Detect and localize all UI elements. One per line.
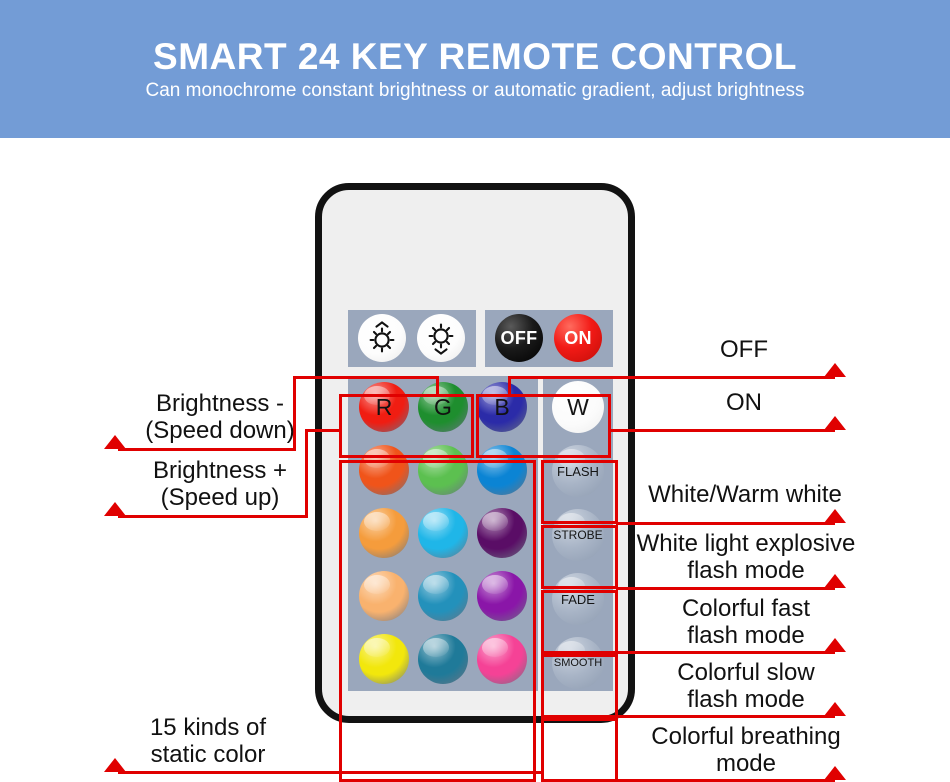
sun-up-arrow-icon	[358, 314, 406, 362]
gloss-highlight	[423, 638, 449, 657]
color-button-12[interactable]	[477, 571, 527, 621]
brightness-down-button[interactable]	[417, 314, 465, 362]
arrow-off	[824, 363, 846, 377]
label-strobe-mode: Colorful fast flash mode	[630, 596, 862, 650]
mode-button-label: W	[552, 381, 604, 433]
label-brightness-down: Brightness - (Speed down)	[130, 391, 310, 445]
color-button-label: B	[477, 382, 527, 432]
off-button-label: OFF	[495, 314, 543, 362]
label-smooth-mode: Colorful breathing mode	[630, 724, 862, 778]
leader-brightness-up-h2	[118, 515, 308, 518]
mode-button-smooth[interactable]: SMOOTH	[552, 637, 604, 689]
mode-button-label: SMOOTH	[552, 637, 604, 689]
leader-white-h	[616, 522, 835, 525]
power-panel: OFF ON	[485, 310, 613, 367]
color-button-label: R	[359, 382, 409, 432]
leader-flash-h	[616, 587, 835, 590]
brightness-panel	[348, 310, 476, 367]
gloss-highlight	[364, 512, 390, 531]
page-subtitle: Can monochrome constant brightness or au…	[145, 81, 804, 100]
mode-button-flash[interactable]: FLASH	[552, 445, 604, 497]
on-button[interactable]: ON	[554, 314, 602, 362]
arrow-on	[824, 416, 846, 430]
color-button-4[interactable]	[359, 445, 409, 495]
gloss-highlight	[482, 512, 508, 531]
label-white-warm-white: White/Warm white	[630, 482, 860, 509]
arrow-white	[824, 509, 846, 523]
mode-button-label: FADE	[552, 573, 604, 625]
brightness-up-button[interactable]	[358, 314, 406, 362]
label-flash-mode: White light explosive flash mode	[630, 531, 862, 585]
leader-static-color-h	[118, 771, 542, 774]
color-grid-panel: RGB	[348, 376, 538, 691]
gloss-highlight	[364, 638, 390, 657]
label-off: OFF	[644, 337, 844, 364]
leader-brightness-down-h2	[118, 448, 296, 451]
page-title: SMART 24 KEY REMOTE CONTROL	[153, 38, 797, 75]
color-button-5[interactable]	[418, 445, 468, 495]
color-button-r[interactable]: R	[359, 382, 409, 432]
color-button-9[interactable]	[477, 508, 527, 558]
gloss-highlight	[364, 449, 390, 468]
label-on: ON	[644, 390, 844, 417]
color-button-8[interactable]	[418, 508, 468, 558]
gloss-highlight	[423, 575, 449, 594]
mode-button-label: FLASH	[552, 445, 604, 497]
gloss-highlight	[482, 449, 508, 468]
mode-button-label: STROBE	[552, 509, 604, 561]
color-button-15[interactable]	[477, 634, 527, 684]
diagram-stage: OFF ON RGB WFLASHSTROBEFADESMOOTH	[0, 138, 950, 757]
color-button-10[interactable]	[359, 571, 409, 621]
on-button-label: ON	[554, 314, 602, 362]
color-button-7[interactable]	[359, 508, 409, 558]
gloss-highlight	[364, 575, 390, 594]
color-button-b[interactable]: B	[477, 382, 527, 432]
color-button-label: G	[418, 382, 468, 432]
leader-strobe-h	[616, 651, 835, 654]
leader-on-h	[609, 429, 835, 432]
color-button-g[interactable]: G	[418, 382, 468, 432]
leader-fade-h	[616, 715, 835, 718]
color-button-14[interactable]	[418, 634, 468, 684]
gloss-highlight	[482, 575, 508, 594]
label-static-color: 15 kinds of static color	[118, 715, 298, 769]
sun-down-arrow-icon	[417, 314, 465, 362]
mode-button-panel: WFLASHSTROBEFADESMOOTH	[543, 376, 613, 691]
gloss-highlight	[423, 512, 449, 531]
label-brightness-up: Brightness + (Speed up)	[130, 458, 310, 512]
mode-button-w[interactable]: W	[552, 381, 604, 433]
mode-button-strobe[interactable]: STROBE	[552, 509, 604, 561]
arrow-brightness-up	[104, 502, 126, 516]
header-banner: SMART 24 KEY REMOTE CONTROL Can monochro…	[0, 0, 950, 138]
color-button-13[interactable]	[359, 634, 409, 684]
color-button-6[interactable]	[477, 445, 527, 495]
mode-button-fade[interactable]: FADE	[552, 573, 604, 625]
label-fade-mode: Colorful slow flash mode	[630, 660, 862, 714]
remote-control-body: OFF ON RGB WFLASHSTROBEFADESMOOTH	[315, 183, 635, 723]
gloss-highlight	[482, 638, 508, 657]
color-button-11[interactable]	[418, 571, 468, 621]
gloss-highlight	[423, 449, 449, 468]
off-button[interactable]: OFF	[495, 314, 543, 362]
highlight-smooth	[541, 718, 618, 782]
arrow-brightness-down	[104, 435, 126, 449]
